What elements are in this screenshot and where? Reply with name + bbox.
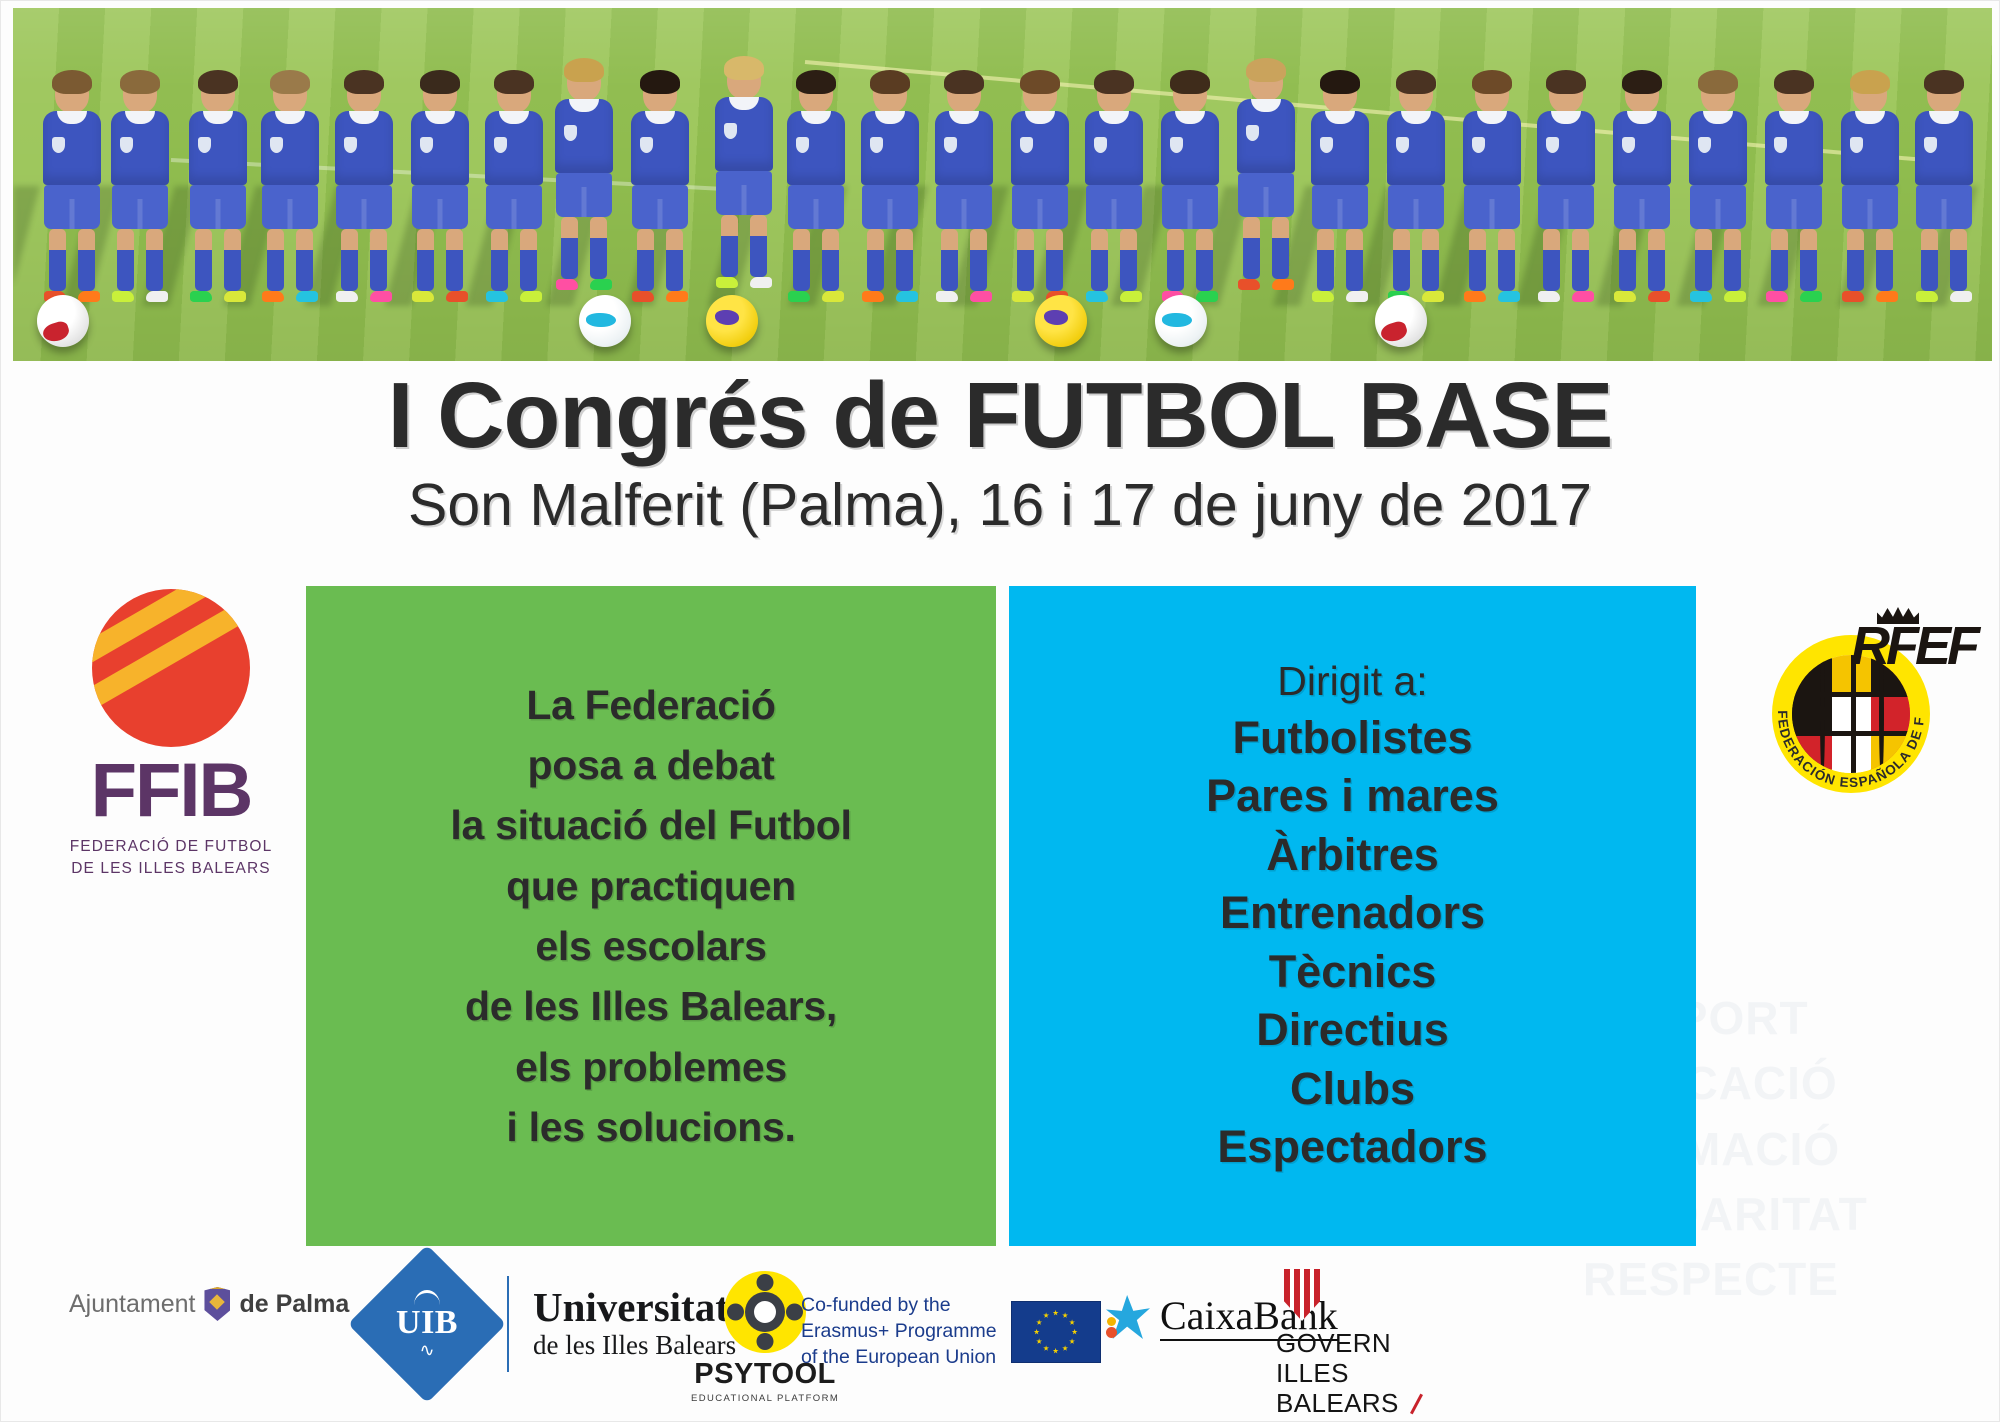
player-figure	[1461, 75, 1523, 303]
player-figure	[187, 75, 249, 303]
ffib-striped-ball-icon	[92, 589, 250, 747]
erasmus-line2: Erasmus+ Programme	[801, 1319, 997, 1345]
sponsor-ajuntament-de-palma[interactable]: Ajuntament de Palma	[69, 1287, 349, 1321]
de-palma-label: de Palma	[239, 1290, 349, 1319]
football-ball	[706, 295, 758, 347]
psytool-network-icon	[724, 1271, 806, 1353]
player-figure	[333, 75, 395, 303]
govern-slash-icon	[1410, 1394, 1423, 1415]
govern-line3: BALEARS	[1276, 1388, 1399, 1418]
player-figure	[1083, 75, 1145, 303]
player-figure	[41, 75, 103, 303]
player-figure	[1763, 75, 1825, 303]
player-figure	[1687, 75, 1749, 303]
sponsor-uib[interactable]: UIB ∿ Universitat de les Illes Balears	[371, 1268, 736, 1380]
green-statement-panel: La Federació posa a debat la situació de…	[306, 586, 996, 1246]
sponsor-govern-illes-balears[interactable]: GOVERN ILLES BALEARS	[1276, 1269, 1399, 1418]
audience-item: Directius	[1206, 1001, 1499, 1060]
audience-lead-label: Dirigit a:	[1206, 655, 1499, 708]
balears-shield-icon	[1284, 1269, 1320, 1321]
player-figure	[785, 75, 847, 303]
player-figure	[409, 75, 471, 303]
green-line: els problemes	[450, 1037, 851, 1097]
audience-item: Tècnics	[1206, 943, 1499, 1002]
eu-flag-icon	[1011, 1301, 1101, 1363]
player-figure	[1839, 75, 1901, 303]
rfef-logo: REAL FEDERACIÓN ESPAÑOLA DE FÚTBOL RFEF	[1756, 601, 1971, 816]
player-figure	[1913, 75, 1975, 303]
psytool-tagline: EDUCATIONAL PLATFORM	[691, 1393, 839, 1404]
audience-item: Futbolistes	[1206, 709, 1499, 768]
ffib-logo: FFIB FEDERACIÓ DE FUTBOL DE LES ILLES BA…	[56, 589, 286, 880]
football-ball	[1035, 295, 1087, 347]
green-line: que practiquen	[450, 856, 851, 916]
sponsor-strip: Ajuntament de Palma UIB ∿ Universitat de…	[1, 1263, 1999, 1403]
ajuntament-label: Ajuntament	[69, 1290, 195, 1319]
govern-wordmark: GOVERN ILLES BALEARS	[1276, 1328, 1399, 1418]
audience-item: Entrenadors	[1206, 884, 1499, 943]
player-figure	[259, 75, 321, 303]
green-panel-text: La Federació posa a debat la situació de…	[450, 675, 851, 1157]
ffib-subtitle: FEDERACIÓ DE FUTBOL DE LES ILLES BALEARS	[56, 836, 286, 880]
audience-item: Pares i mares	[1206, 767, 1499, 826]
sponsor-erasmus-plus[interactable]: Co-funded by the Erasmus+ Programme of t…	[801, 1293, 1101, 1371]
green-line: de les Illes Balears,	[450, 976, 851, 1036]
palma-crest-icon	[204, 1287, 230, 1321]
title-block: I Congrés de FUTBOL BASE Son Malferit (P…	[1, 369, 1999, 535]
ffib-subtitle-line2: DE LES ILLES BALEARS	[56, 858, 286, 880]
player-figure	[1309, 75, 1371, 303]
football-ball	[1155, 295, 1207, 347]
blue-audience-panel: Dirigit a: Futbolistes Pares i mares Àrb…	[1009, 586, 1696, 1246]
ffib-subtitle-line1: FEDERACIÓ DE FUTBOL	[56, 836, 286, 858]
player-figure	[1611, 75, 1673, 303]
player-figure	[1385, 75, 1447, 303]
caixabank-star-icon	[1106, 1295, 1150, 1339]
green-line: posa a debat	[450, 735, 851, 795]
uib-diamond-icon: UIB ∿	[348, 1245, 506, 1403]
green-line: i les solucions.	[450, 1097, 851, 1157]
erasmus-text: Co-funded by the Erasmus+ Programme of t…	[801, 1293, 997, 1371]
player-figure	[1159, 75, 1221, 303]
audience-item: Espectadors	[1206, 1118, 1499, 1177]
football-ball	[579, 295, 631, 347]
divider	[507, 1276, 509, 1372]
blue-panel-text: Dirigit a: Futbolistes Pares i mares Àrb…	[1206, 655, 1499, 1176]
green-line: La Federació	[450, 675, 851, 735]
page-subtitle: Son Malferit (Palma), 16 i 17 de juny de…	[1, 476, 1999, 535]
govern-line1: GOVERN	[1276, 1328, 1399, 1358]
hero-photo	[13, 8, 1992, 361]
audience-item: Àrbitres	[1206, 826, 1499, 885]
football-ball	[37, 295, 89, 347]
audience-item: Clubs	[1206, 1060, 1499, 1119]
erasmus-line1: Co-funded by the	[801, 1293, 997, 1319]
rfef-letters: RFEF	[1851, 619, 1976, 673]
player-figure	[483, 75, 545, 303]
player-figure	[859, 75, 921, 303]
player-figure	[1535, 75, 1597, 303]
erasmus-line3: of the European Union	[801, 1345, 997, 1371]
player-figure	[713, 61, 775, 289]
player-figure	[1009, 75, 1071, 303]
green-line: els escolars	[450, 916, 851, 976]
ffib-acronym: FFIB	[56, 753, 286, 829]
player-figure	[109, 75, 171, 303]
player-figure	[553, 63, 615, 291]
poster-root: I Congrés de FUTBOL BASE Son Malferit (P…	[0, 0, 2000, 1422]
player-figure	[1235, 63, 1297, 291]
football-ball	[1375, 295, 1427, 347]
govern-line2: ILLES	[1276, 1358, 1399, 1388]
green-line: la situació del Futbol	[450, 795, 851, 855]
player-figure	[933, 75, 995, 303]
uib-abbr: UIB	[396, 1306, 458, 1340]
page-title: I Congrés de FUTBOL BASE	[1, 369, 1999, 462]
player-figure	[629, 75, 691, 303]
